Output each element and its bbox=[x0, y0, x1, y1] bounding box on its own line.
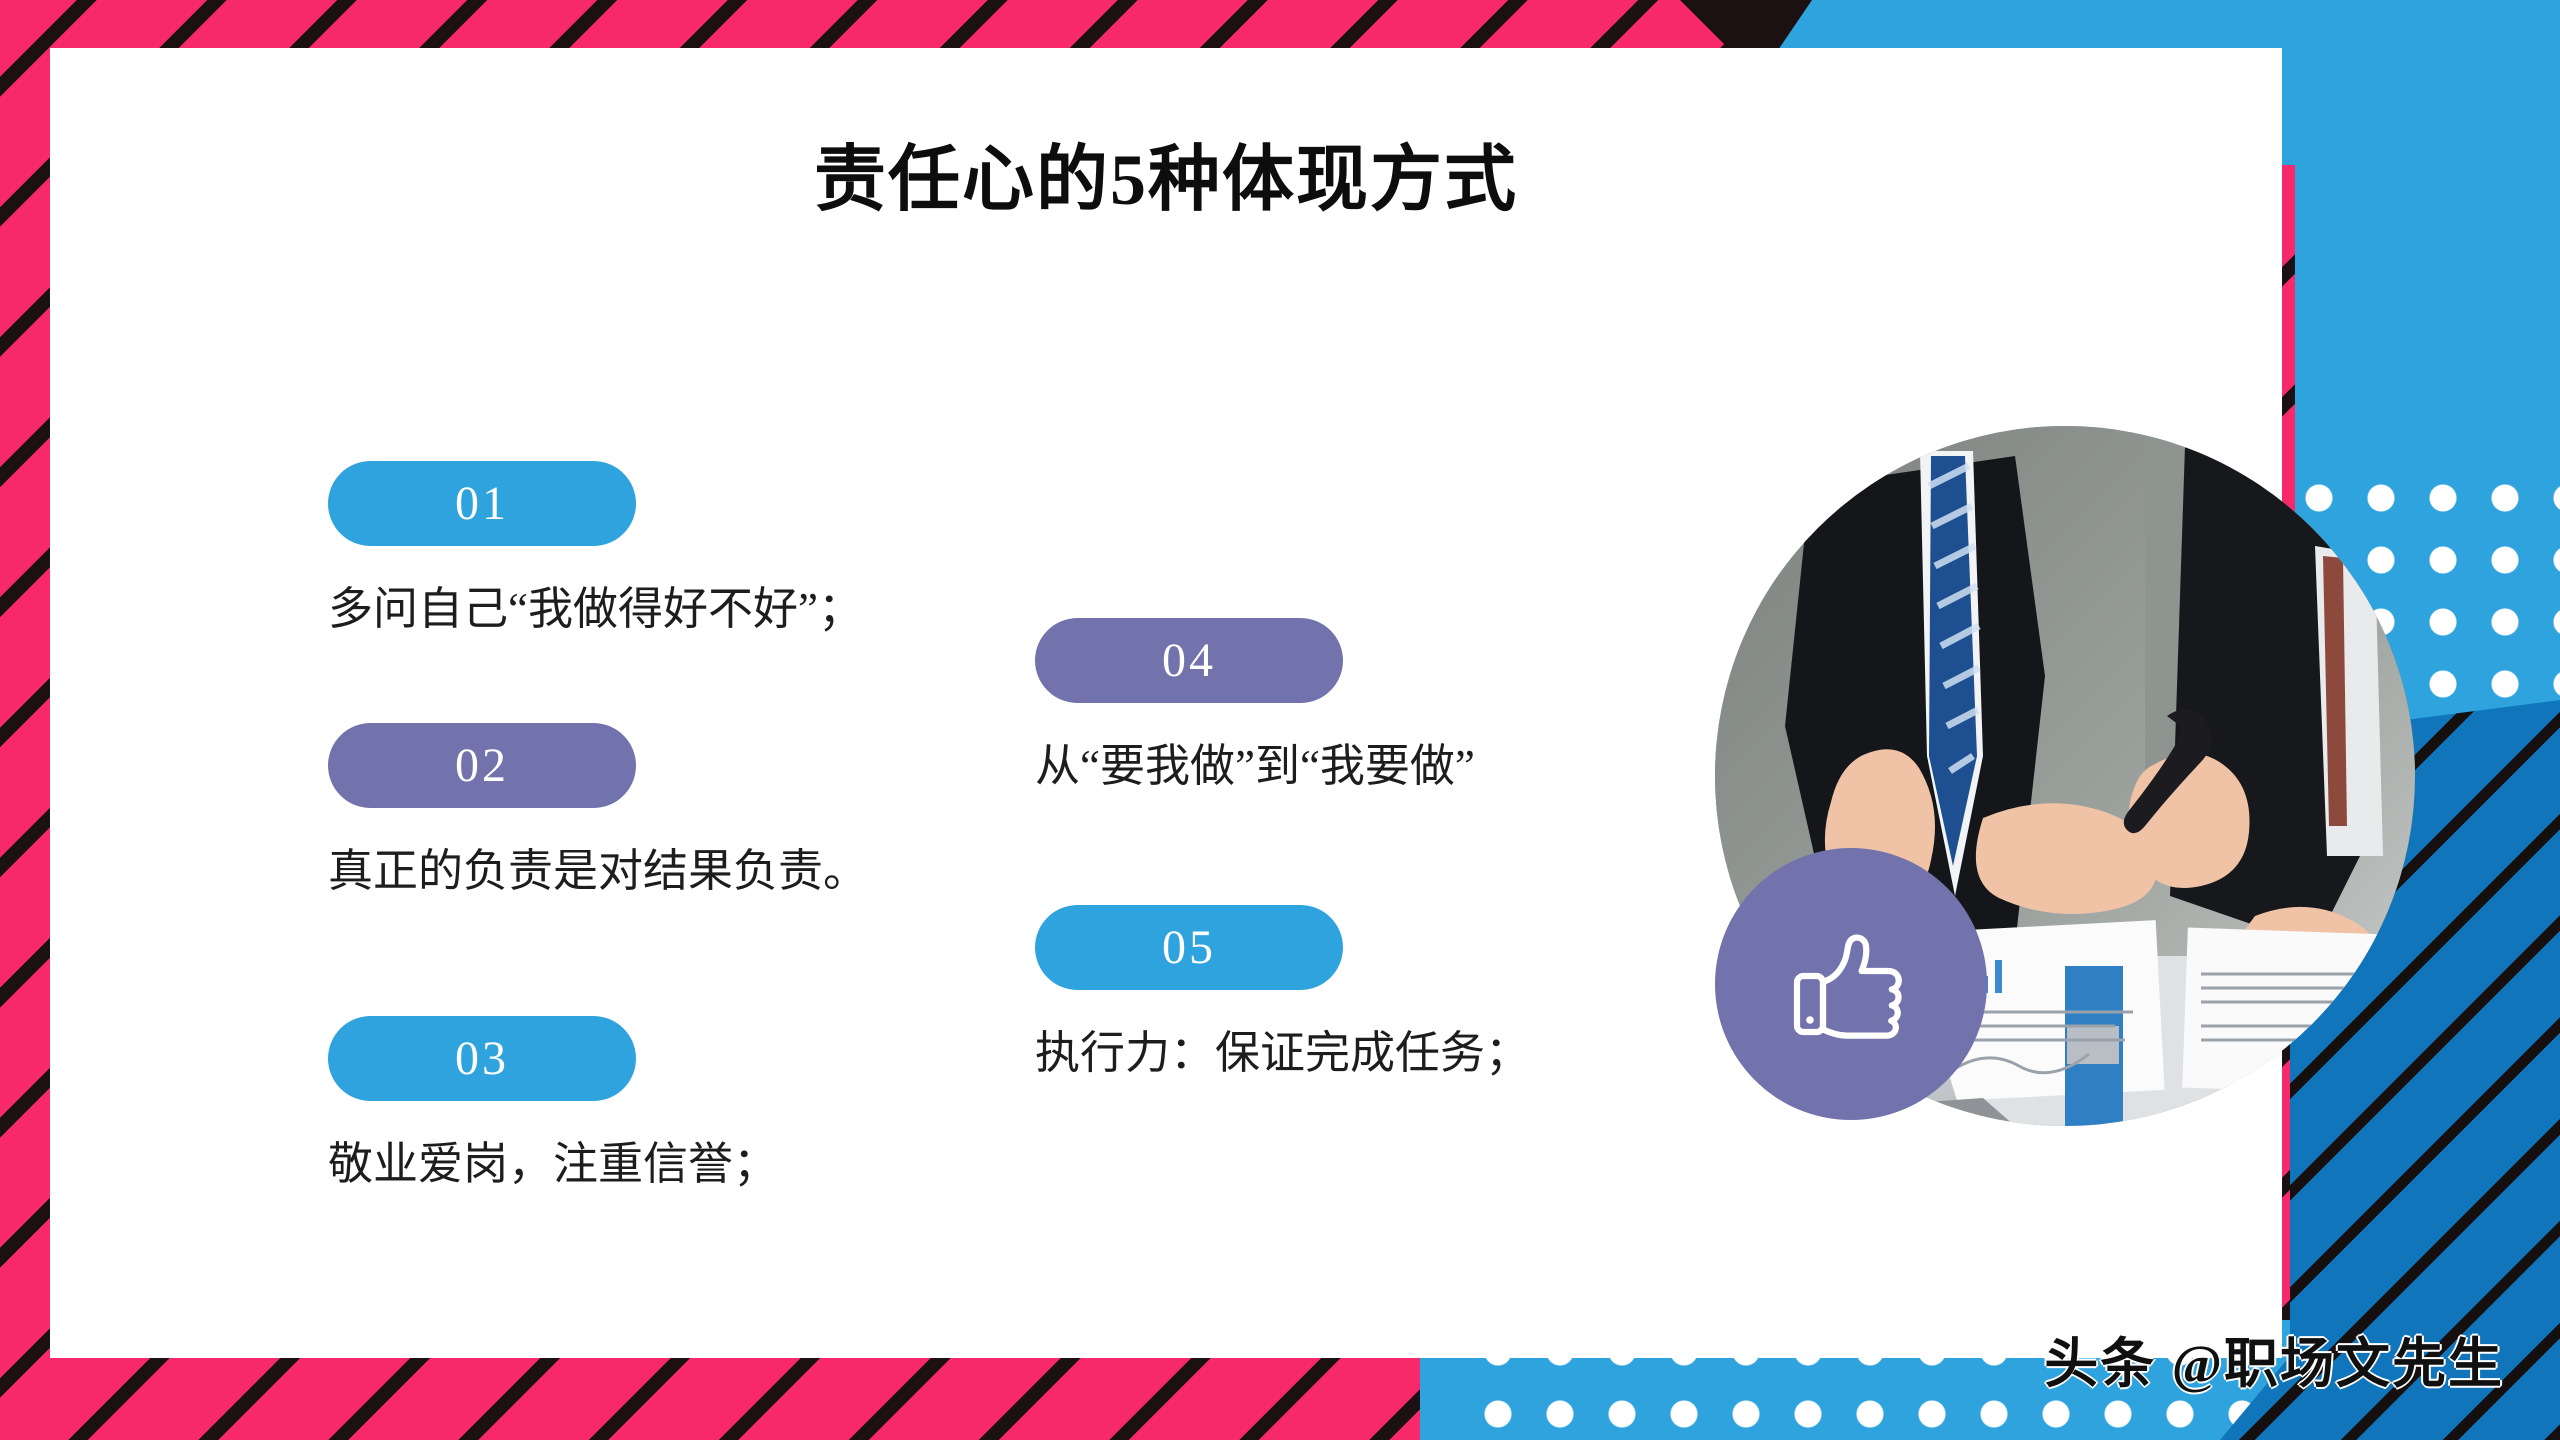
list-item-02[interactable]: 02 真正的负责是对结果负责。 bbox=[328, 723, 868, 898]
list-item-01[interactable]: 01 多问自己“我做得好不好”； bbox=[328, 461, 863, 636]
item-text-05: 执行力：保证完成任务； bbox=[1035, 1026, 1530, 1080]
list-item-04[interactable]: 04 从“要我做”到“我要做” bbox=[1035, 618, 1475, 793]
slide-canvas: 责任心的5种体现方式 01 多问自己“我做得好不好”； 02 真正的负责是对结果… bbox=[0, 0, 2560, 1440]
item-text-02: 真正的负责是对结果负责。 bbox=[328, 844, 868, 898]
item-number-badge-03: 03 bbox=[328, 1016, 636, 1101]
item-number-badge-02: 02 bbox=[328, 723, 636, 808]
item-number-badge-04: 04 bbox=[1035, 618, 1343, 703]
content-card: 责任心的5种体现方式 01 多问自己“我做得好不好”； 02 真正的负责是对结果… bbox=[50, 48, 2282, 1358]
item-text-03: 敬业爱岗，注重信誉； bbox=[328, 1137, 778, 1191]
list-item-05[interactable]: 05 执行力：保证完成任务； bbox=[1035, 905, 1530, 1080]
page-title: 责任心的5种体现方式 bbox=[50, 144, 2282, 216]
item-number-badge-05: 05 bbox=[1035, 905, 1343, 990]
item-number-badge-01: 01 bbox=[328, 461, 636, 546]
list-item-03[interactable]: 03 敬业爱岗，注重信誉； bbox=[328, 1016, 778, 1191]
thumbs-up-badge bbox=[1715, 848, 1987, 1120]
item-text-01: 多问自己“我做得好不好”； bbox=[328, 582, 863, 636]
thumbs-up-icon bbox=[1787, 920, 1915, 1048]
watermark-text: 头条 @职场文先生 bbox=[2044, 1319, 2504, 1398]
item-text-04: 从“要我做”到“我要做” bbox=[1035, 739, 1475, 793]
